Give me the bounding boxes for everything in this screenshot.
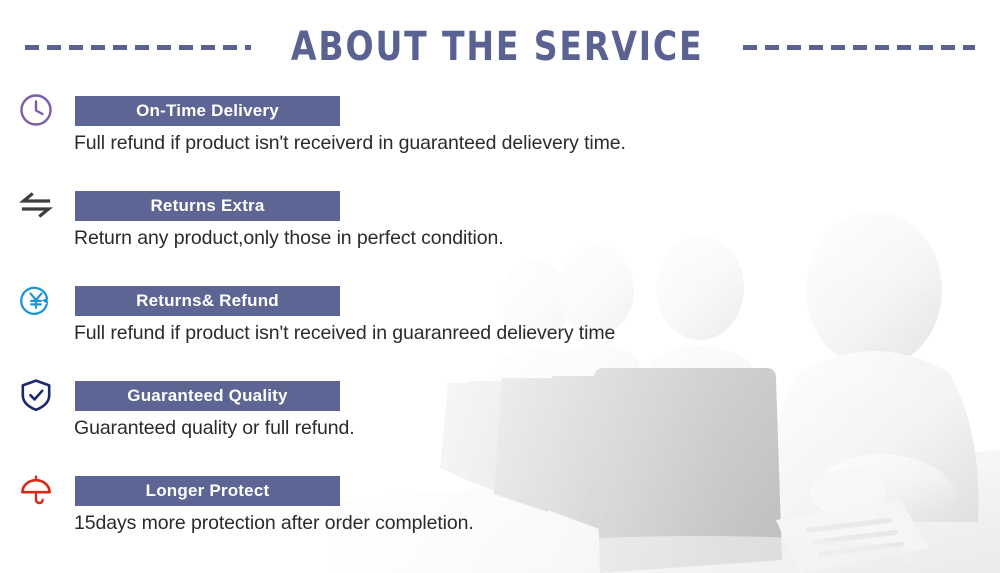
refund-yen-icon xyxy=(16,280,56,320)
page-header: ABOUT THE SERVICE xyxy=(0,16,1000,78)
feature-row: Returns Extra Return any product,only th… xyxy=(0,181,1000,276)
feature-title-badge: Longer Protect xyxy=(75,476,340,506)
clock-icon xyxy=(16,90,56,130)
feature-description: 15days more protection after order compl… xyxy=(74,512,474,535)
feature-title: Guaranteed Quality xyxy=(127,386,287,406)
feature-description: Full refund if product isn't received in… xyxy=(74,322,615,345)
feature-title-badge: Returns& Refund xyxy=(75,286,340,316)
divider-right xyxy=(743,45,975,50)
divider-left xyxy=(25,45,251,50)
feature-title: Returns Extra xyxy=(150,196,264,216)
feature-description: Guaranteed quality or full refund. xyxy=(74,417,355,440)
feature-description: Full refund if product isn't receiverd i… xyxy=(74,132,626,155)
umbrella-icon xyxy=(16,470,56,510)
feature-description: Return any product,only those in perfect… xyxy=(74,227,504,250)
feature-title-badge: On-Time Delivery xyxy=(75,96,340,126)
feature-title: Longer Protect xyxy=(146,481,270,501)
about-the-service-banner: ABOUT THE SERVICE On-Time Delivery Full … xyxy=(0,0,1000,573)
feature-title: On-Time Delivery xyxy=(136,101,279,121)
shield-check-icon xyxy=(16,375,56,415)
feature-row: Returns& Refund Full refund if product i… xyxy=(0,276,1000,371)
feature-title-badge: Guaranteed Quality xyxy=(75,381,340,411)
feature-row: Guaranteed Quality Guaranteed quality or… xyxy=(0,371,1000,466)
service-feature-list: On-Time Delivery Full refund if product … xyxy=(0,86,1000,561)
feature-title: Returns& Refund xyxy=(136,291,279,311)
feature-title-badge: Returns Extra xyxy=(75,191,340,221)
exchange-arrows-icon xyxy=(16,185,56,225)
feature-row: Longer Protect 15days more protection af… xyxy=(0,466,1000,561)
page-title: ABOUT THE SERVICE xyxy=(291,24,704,70)
feature-row: On-Time Delivery Full refund if product … xyxy=(0,86,1000,181)
